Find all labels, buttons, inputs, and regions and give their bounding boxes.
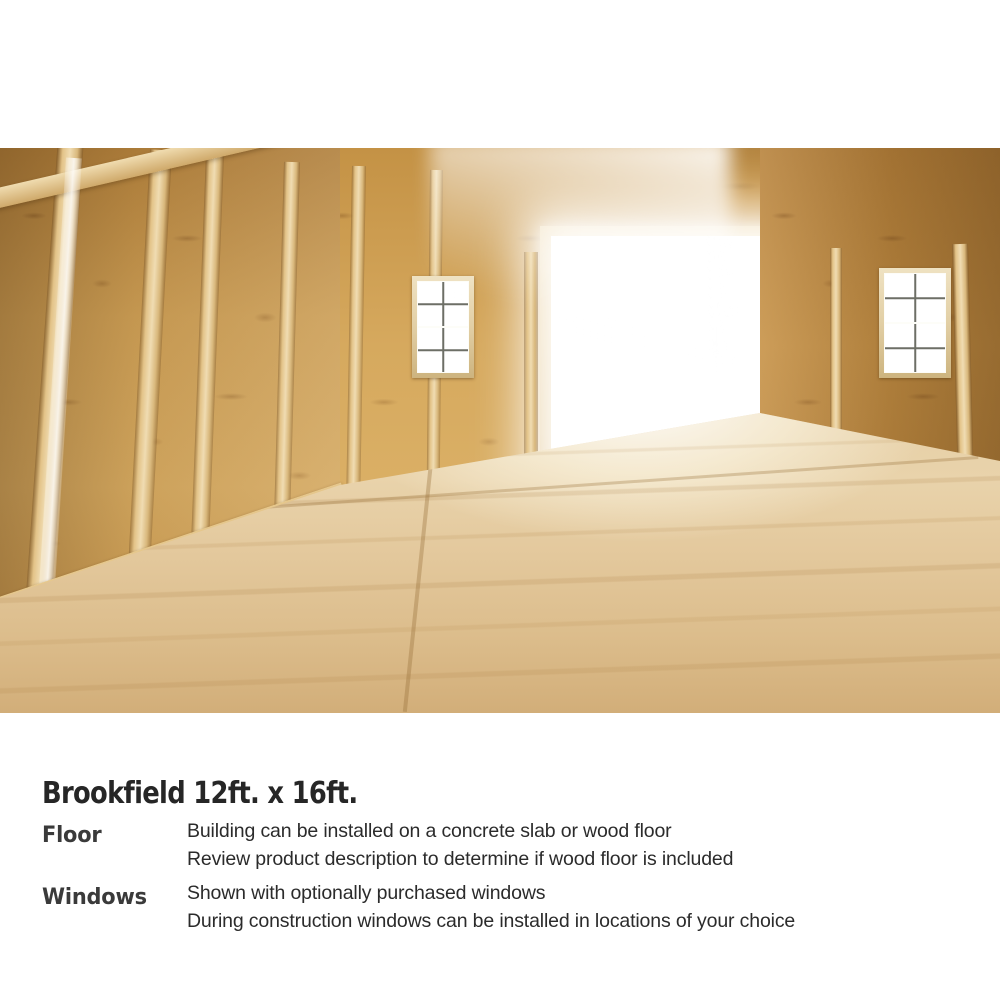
spec-text-windows-line-2: During construction windows can be insta… [187, 907, 795, 935]
spec-text-floor: Building can be installed on a concrete … [187, 817, 733, 873]
right-window-glass [884, 273, 946, 373]
spec-label-floor: Floor [42, 823, 102, 848]
shed-interior-photo [0, 148, 1000, 713]
doorway-sunbeam [430, 148, 730, 368]
spec-text-windows-line-1: Shown with optionally purchased windows [187, 879, 795, 907]
specification-block: Brookfield 12ft. x 16ft. Floor Building … [0, 713, 1000, 1000]
spec-label-windows: Windows [42, 885, 147, 910]
product-title: Brookfield 12ft. x 16ft. [42, 776, 357, 811]
product-image-page: Brookfield 12ft. x 16ft. Floor Building … [0, 0, 1000, 1000]
right-wall-window [879, 268, 951, 378]
right-window-lower-sash [885, 324, 945, 372]
spec-text-windows: Shown with optionally purchased windows … [187, 879, 795, 935]
right-window-upper-sash [885, 274, 945, 322]
spec-text-floor-line-2: Review product description to determine … [187, 845, 733, 873]
spec-text-floor-line-1: Building can be installed on a concrete … [187, 817, 733, 845]
